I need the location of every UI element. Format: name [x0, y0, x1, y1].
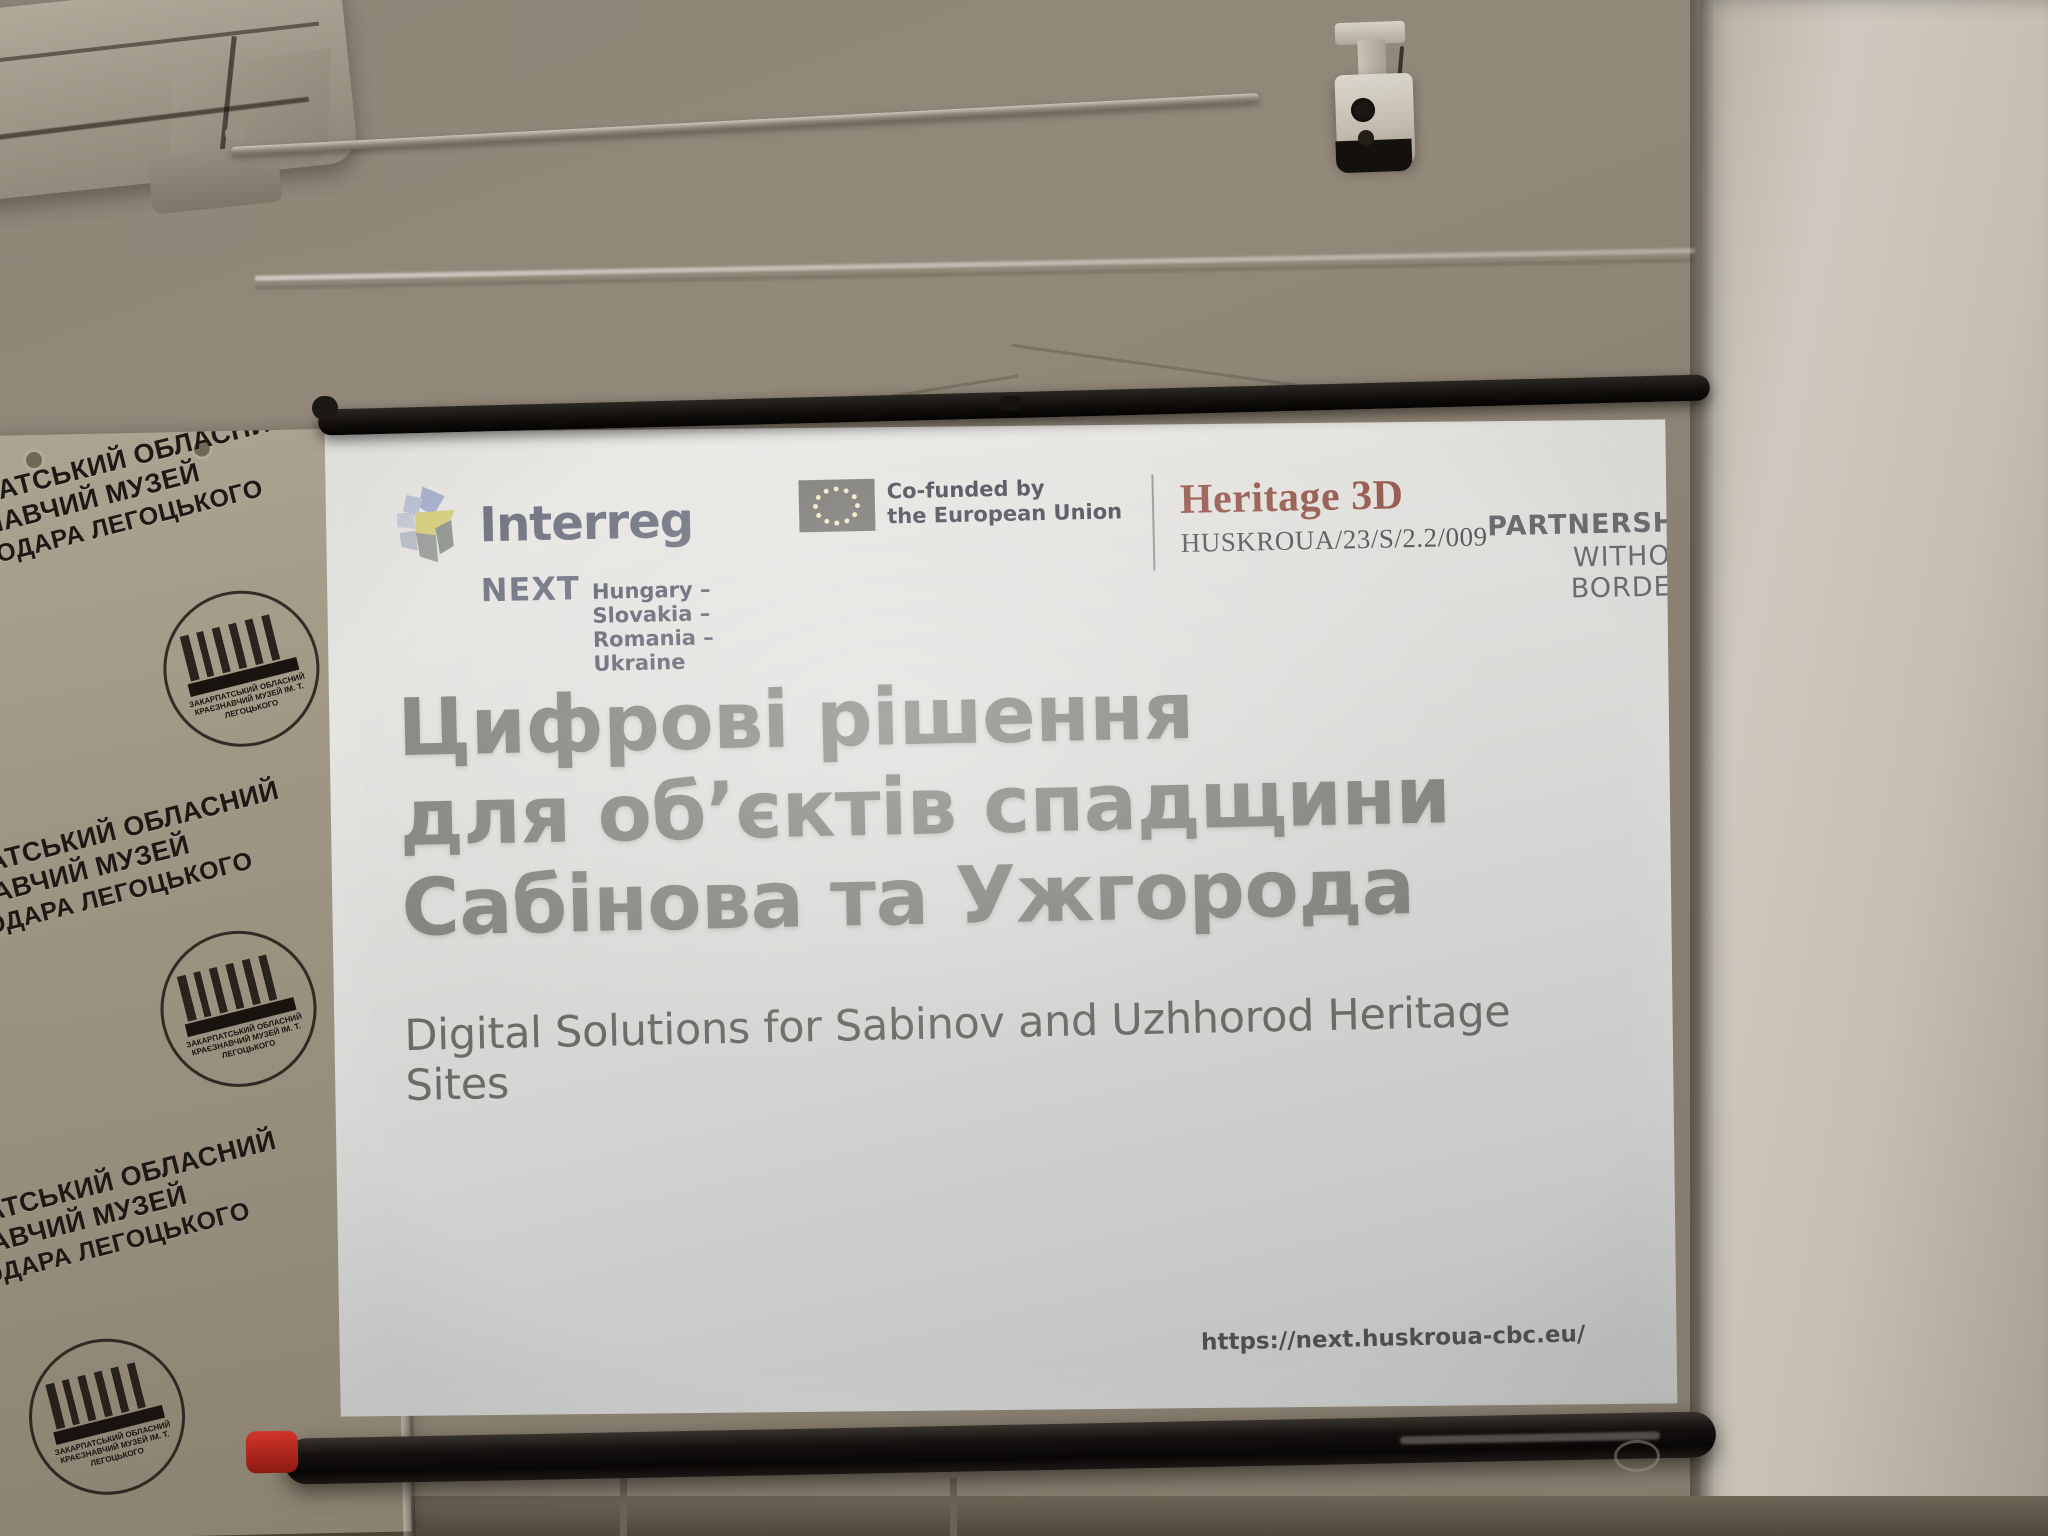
interreg-logo-top: Interreg [392, 476, 794, 569]
interreg-logo-bottom: NEXT Hungary – Slovakia – Romania – Ukra… [480, 564, 796, 678]
screen-support-legs [620, 1478, 960, 1536]
slide-subtitle: Digital Solutions for Sabinov and Uzhhor… [404, 985, 1620, 1111]
museum-seal-icon: ЗАКАРПАТСЬКИЙ ОБЛАСНИЙ КРАЄЗНАВЧИЙ МУЗЕЙ… [144, 914, 334, 1104]
project-code: HUSKROUA/23/S/2.2/009 [1180, 521, 1487, 559]
museum-seal-icon: ЗАКАРПАТСЬКИЙ ОБЛАСНИЙ КРАЄЗНАВЧИЙ МУЗЕЙ… [12, 1322, 202, 1512]
projection-surface: Interreg NEXT Hungary – Slovakia – Roman… [319, 403, 1686, 1432]
slide-title: Цифрові рішення для об’єктів спадщини Са… [397, 657, 1617, 954]
ceiling-pipe-end-cap [225, 126, 248, 140]
security-camera-lens [1351, 98, 1375, 122]
room-photo-scene: ЗАКАРПАТСЬКИЙ ОБЛАСНИЙ КРАЄЗНАВЧИЙ МУЗЕЙ… [0, 0, 2048, 1536]
slide-logo-row: Interreg NEXT Hungary – Slovakia – Roman… [392, 459, 1608, 605]
security-camera-sensor [1358, 130, 1374, 146]
eu-cofunding-logo: Co-funded by the European Union [798, 473, 1122, 532]
security-camera-shade [1335, 139, 1412, 174]
slide-url: https://next.huskroua-cbc.eu/ [411, 1321, 1626, 1391]
interreg-countries: Hungary – Slovakia – Romania – Ukraine [592, 575, 797, 675]
screen-hanging-knob [1000, 396, 1022, 410]
museum-seal-icon: ЗАКАРПАТСЬКИЙ ОБЛАСНИЙ КРАЄЗНАВЧИЙ МУЗЕЙ… [147, 574, 337, 764]
screen-top-bar-cap [312, 396, 339, 421]
projector-screen: Interreg NEXT Hungary – Slovakia – Roman… [319, 403, 1686, 1432]
project-logo: Heritage 3D HUSKROUA/23/S/2.2/009 [1179, 471, 1487, 559]
eu-cofunding-line-2: the European Union [887, 499, 1122, 529]
project-name: Heritage 3D [1179, 471, 1487, 522]
interreg-pinwheel-icon [392, 484, 466, 570]
interreg-wordmark: Interreg [479, 497, 694, 550]
logo-divider [1151, 475, 1155, 571]
presentation-slide: Interreg NEXT Hungary – Slovakia – Roman… [319, 403, 1686, 1432]
eu-cofunding-text: Co-funded by the European Union [886, 475, 1122, 530]
interreg-next-wordmark: NEXT [480, 569, 580, 609]
eu-flag-icon [798, 479, 875, 533]
wall-corner-shadow [1690, 0, 1716, 1536]
interreg-logo: Interreg NEXT Hungary – Slovakia – Roman… [392, 476, 796, 680]
side-wall [1700, 0, 2048, 1536]
screen-roller-red-cap [246, 1431, 299, 1474]
